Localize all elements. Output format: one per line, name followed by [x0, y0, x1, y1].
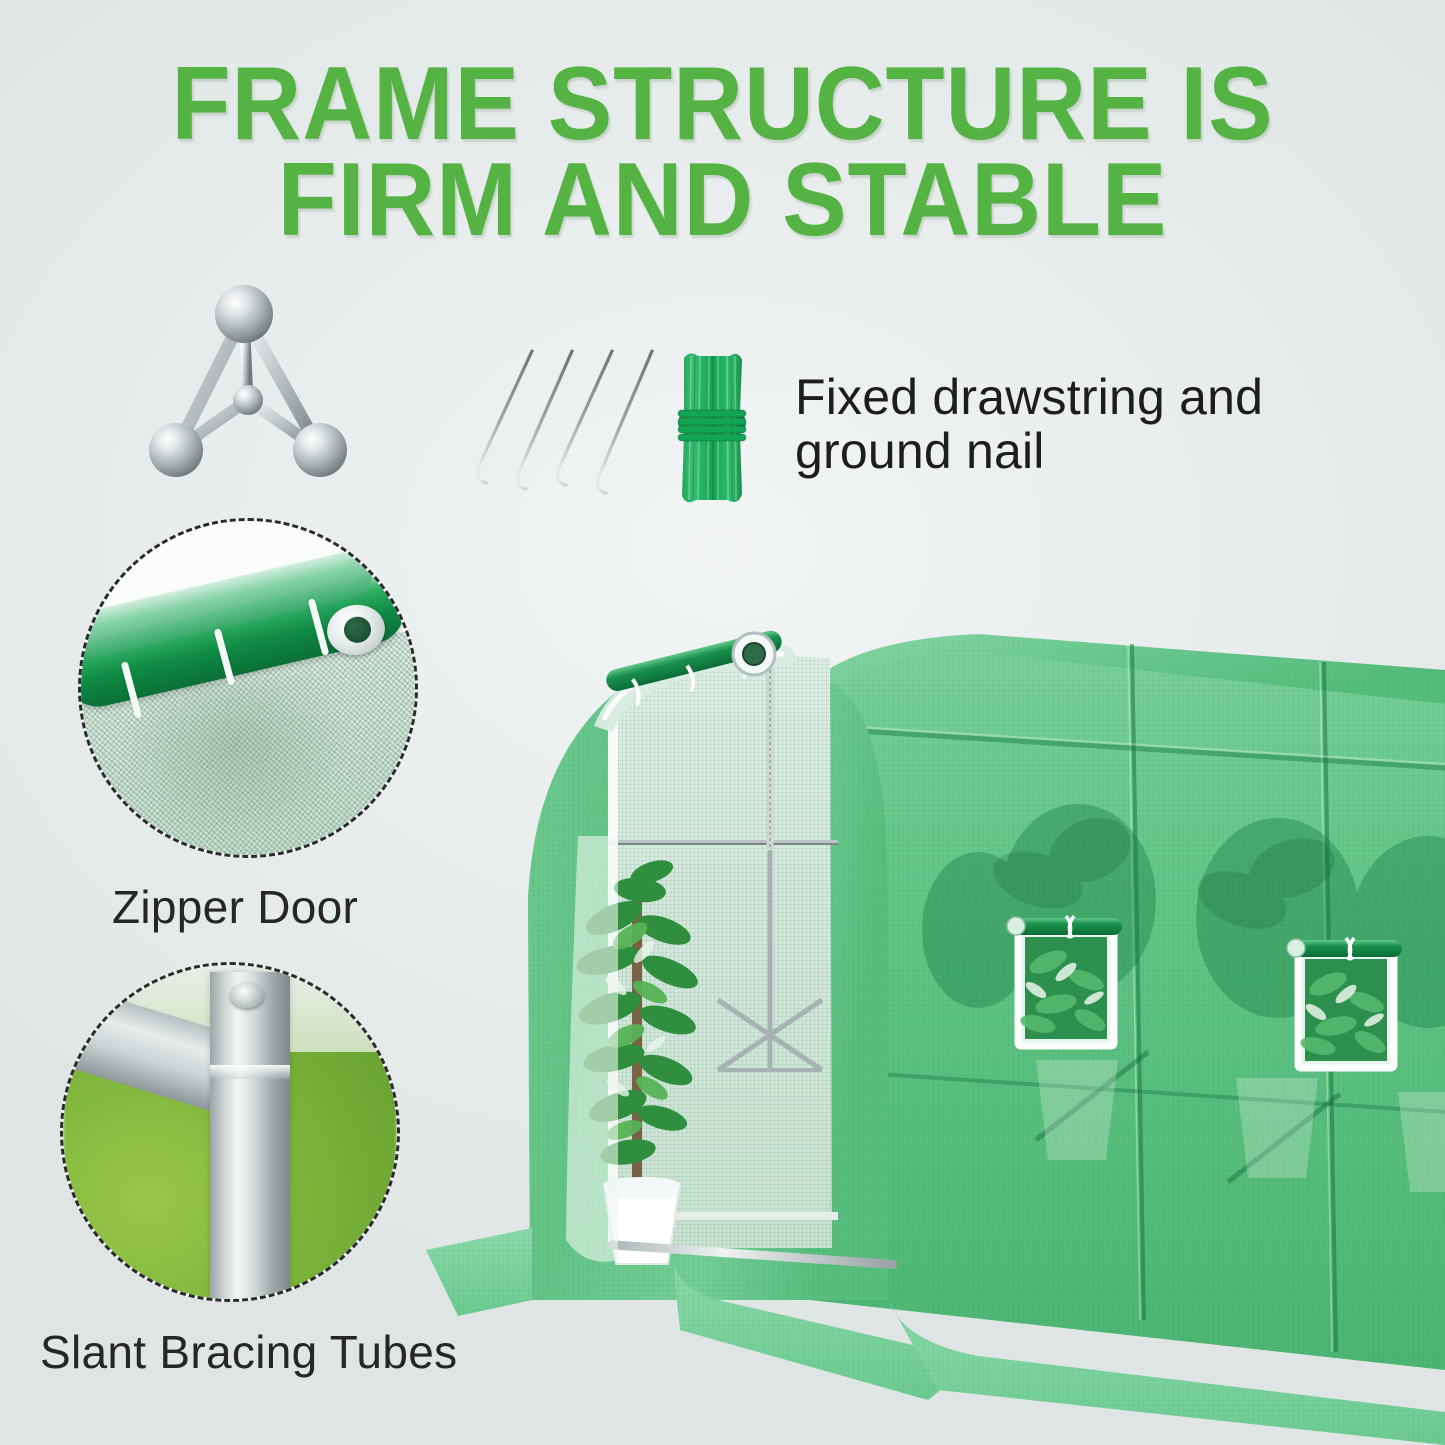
inset-label-slant-bracing-tubes: Slant Bracing Tubes: [40, 1325, 457, 1379]
grommet-icon: [733, 633, 775, 675]
greenhouse-product-image: [418, 600, 1445, 1445]
roll-up-window: [1287, 938, 1402, 1068]
bolt-icon: [230, 982, 264, 1008]
ground-nails-and-rope-bundle-icon: [462, 338, 772, 518]
page-title-line2: FIRM AND STABLE: [51, 152, 1395, 248]
infographic-canvas: FRAME STRUCTURE IS FIRM AND STABLE: [0, 0, 1445, 1445]
page-title: FRAME STRUCTURE IS FIRM AND STABLE: [51, 56, 1395, 248]
zipper-door-closeup-image: [81, 521, 415, 855]
ground-anchor-flap: [426, 1228, 532, 1316]
roll-up-window: [1007, 916, 1122, 1046]
feature-label-drawstring: Fixed drawstring and ground nail: [795, 370, 1355, 478]
inset-zipper-door: [78, 518, 418, 858]
steel-pipe-joint-closeup-image: [63, 965, 397, 1299]
tetrahedron-frame-connector-icon: [136, 282, 356, 482]
inset-slant-bracing-tubes: [60, 962, 400, 1302]
inset-label-zipper-door: Zipper Door: [112, 880, 358, 934]
